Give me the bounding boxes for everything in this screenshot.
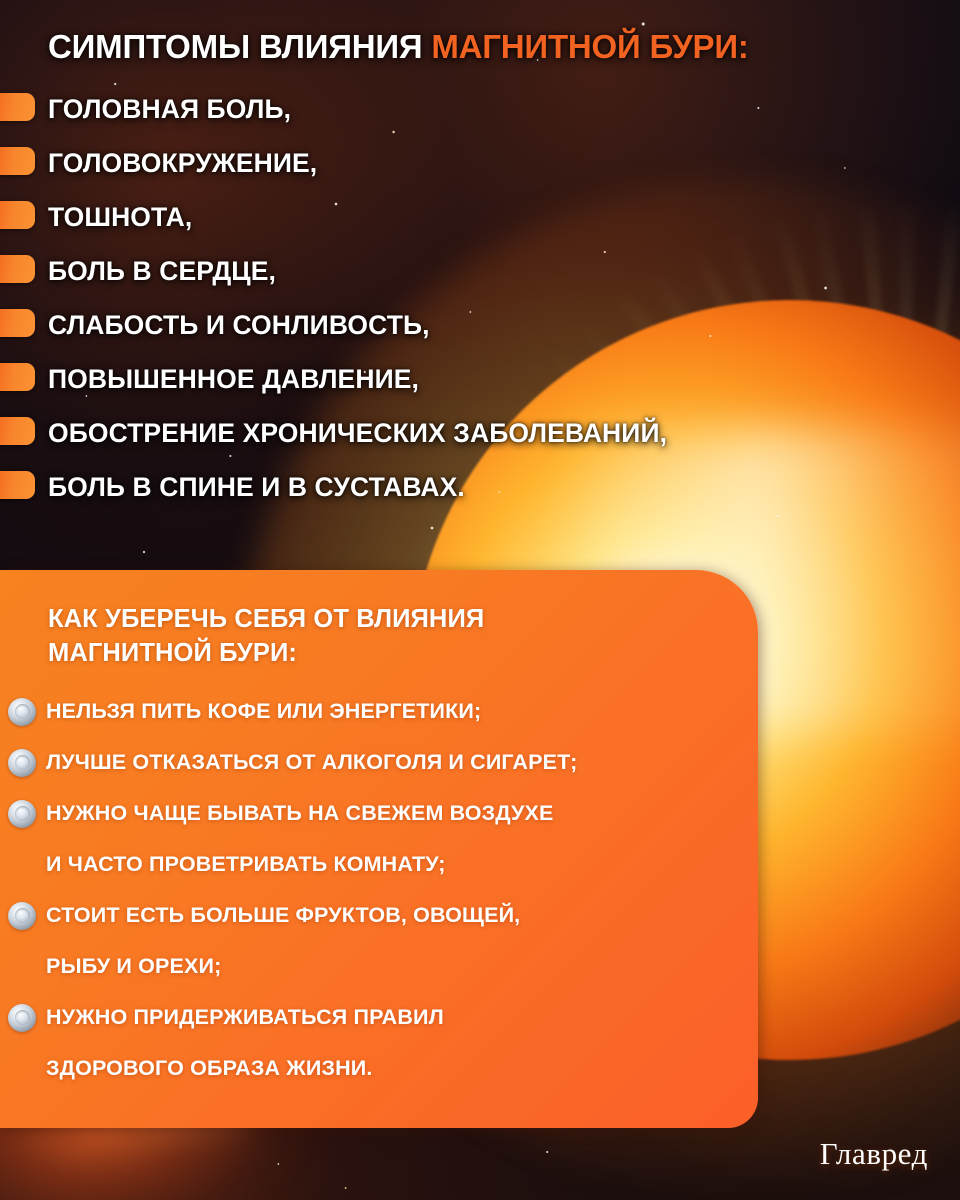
tip-label: НЕЛЬЗЯ ПИТЬ КОФЕ ИЛИ ЭНЕРГЕТИКИ; bbox=[0, 699, 481, 724]
circle-bullet-icon bbox=[8, 1004, 36, 1032]
list-item: БОЛЬ В СЕРДЦЕ, bbox=[0, 245, 960, 299]
tips-list: НЕЛЬЗЯ ПИТЬ КОФЕ ИЛИ ЭНЕРГЕТИКИ; ЛУЧШЕ О… bbox=[0, 670, 758, 1094]
watermark-logo: Главред bbox=[820, 1136, 928, 1172]
list-item: ЛУЧШЕ ОТКАЗАТЬСЯ ОТ АЛКОГОЛЯ И СИГАРЕТ; bbox=[0, 737, 758, 788]
bullet-bar-icon bbox=[0, 309, 35, 337]
tip-line-continuation: РЫБУ И ОРЕХИ; bbox=[0, 941, 758, 992]
circle-bullet-icon bbox=[8, 749, 36, 777]
symptom-label: БОЛЬ В СПИНЕ И В СУСТАВАХ. bbox=[0, 472, 465, 503]
tip-label: НУЖНО ЧАЩЕ БЫВАТЬ НА СВЕЖЕМ ВОЗДУХЕ bbox=[0, 801, 554, 826]
list-item: НУЖНО ЧАЩЕ БЫВАТЬ НА СВЕЖЕМ ВОЗДУХЕ И ЧА… bbox=[0, 788, 758, 890]
symptom-list: ГОЛОВНАЯ БОЛЬ, ГОЛОВОКРУЖЕНИЕ, ТОШНОТА, … bbox=[0, 65, 960, 515]
tip-line: НУЖНО ЧАЩЕ БЫВАТЬ НА СВЕЖЕМ ВОЗДУХЕ bbox=[0, 788, 758, 839]
bullet-bar-icon bbox=[0, 417, 35, 445]
tips-title-line-1: КАК УБЕРЕЧЬ СЕБЯ ОТ ВЛИЯНИЯ bbox=[48, 605, 484, 633]
tip-label: ЛУЧШЕ ОТКАЗАТЬСЯ ОТ АЛКОГОЛЯ И СИГАРЕТ; bbox=[0, 750, 577, 775]
tips-panel: КАК УБЕРЕЧЬ СЕБЯ ОТ ВЛИЯНИЯ МАГНИТНОЙ БУ… bbox=[0, 570, 758, 1128]
list-item: ГОЛОВНАЯ БОЛЬ, bbox=[0, 83, 960, 137]
tip-label-continued: И ЧАСТО ПРОВЕТРИВАТЬ КОМНАТУ; bbox=[0, 852, 446, 877]
symptom-label: ГОЛОВНАЯ БОЛЬ, bbox=[0, 94, 291, 125]
bullet-bar-icon bbox=[0, 255, 35, 283]
list-item: БОЛЬ В СПИНЕ И В СУСТАВАХ. bbox=[0, 461, 960, 515]
circle-bullet-icon bbox=[8, 902, 36, 930]
bullet-bar-icon bbox=[0, 201, 35, 229]
symptoms-section: СИМПТОМЫ ВЛИЯНИЯ МАГНИТНОЙ БУРИ: ГОЛОВНА… bbox=[0, 0, 960, 515]
page-title: СИМПТОМЫ ВЛИЯНИЯ МАГНИТНОЙ БУРИ: bbox=[0, 0, 960, 65]
tip-line: НУЖНО ПРИДЕРЖИВАТЬСЯ ПРАВИЛ bbox=[0, 992, 758, 1043]
tips-title-line-2: МАГНИТНОЙ БУРИ: bbox=[48, 639, 297, 667]
page-title-accent: МАГНИТНОЙ БУРИ: bbox=[431, 28, 748, 65]
list-item: НЕЛЬЗЯ ПИТЬ КОФЕ ИЛИ ЭНЕРГЕТИКИ; bbox=[0, 686, 758, 737]
tips-panel-title: КАК УБЕРЕЧЬ СЕБЯ ОТ ВЛИЯНИЯ МАГНИТНОЙ БУ… bbox=[0, 570, 758, 670]
circle-bullet-icon bbox=[8, 698, 36, 726]
tip-line: ЛУЧШЕ ОТКАЗАТЬСЯ ОТ АЛКОГОЛЯ И СИГАРЕТ; bbox=[0, 737, 758, 788]
tip-label-continued: РЫБУ И ОРЕХИ; bbox=[0, 954, 221, 979]
tip-label: СТОИТ ЕСТЬ БОЛЬШЕ ФРУКТОВ, ОВОЩЕЙ, bbox=[0, 903, 520, 928]
list-item: ТОШНОТА, bbox=[0, 191, 960, 245]
bullet-bar-icon bbox=[0, 93, 35, 121]
tip-line-continuation: И ЧАСТО ПРОВЕТРИВАТЬ КОМНАТУ; bbox=[0, 839, 758, 890]
symptom-label: ГОЛОВОКРУЖЕНИЕ, bbox=[0, 148, 317, 179]
list-item: ОБОСТРЕНИЕ ХРОНИЧЕСКИХ ЗАБОЛЕВАНИЙ, bbox=[0, 407, 960, 461]
bullet-bar-icon bbox=[0, 147, 35, 175]
list-item: СЛАБОСТЬ И СОНЛИВОСТЬ, bbox=[0, 299, 960, 353]
infographic-poster: СИМПТОМЫ ВЛИЯНИЯ МАГНИТНОЙ БУРИ: ГОЛОВНА… bbox=[0, 0, 960, 1200]
symptom-label: СЛАБОСТЬ И СОНЛИВОСТЬ, bbox=[0, 310, 430, 341]
tip-label: НУЖНО ПРИДЕРЖИВАТЬСЯ ПРАВИЛ bbox=[0, 1005, 444, 1030]
tip-line: НЕЛЬЗЯ ПИТЬ КОФЕ ИЛИ ЭНЕРГЕТИКИ; bbox=[0, 686, 758, 737]
symptom-label: БОЛЬ В СЕРДЦЕ, bbox=[0, 256, 276, 287]
symptom-label: ОБОСТРЕНИЕ ХРОНИЧЕСКИХ ЗАБОЛЕВАНИЙ, bbox=[0, 418, 667, 449]
page-title-plain: СИМПТОМЫ ВЛИЯНИЯ bbox=[48, 28, 431, 65]
list-item: ПОВЫШЕННОЕ ДАВЛЕНИЕ, bbox=[0, 353, 960, 407]
tip-label-continued: ЗДОРОВОГО ОБРАЗА ЖИЗНИ. bbox=[0, 1056, 373, 1081]
list-item: СТОИТ ЕСТЬ БОЛЬШЕ ФРУКТОВ, ОВОЩЕЙ, РЫБУ … bbox=[0, 890, 758, 992]
list-item: ГОЛОВОКРУЖЕНИЕ, bbox=[0, 137, 960, 191]
list-item: НУЖНО ПРИДЕРЖИВАТЬСЯ ПРАВИЛ ЗДОРОВОГО ОБ… bbox=[0, 992, 758, 1094]
tip-line-continuation: ЗДОРОВОГО ОБРАЗА ЖИЗНИ. bbox=[0, 1043, 758, 1094]
tip-line: СТОИТ ЕСТЬ БОЛЬШЕ ФРУКТОВ, ОВОЩЕЙ, bbox=[0, 890, 758, 941]
bullet-bar-icon bbox=[0, 471, 35, 499]
circle-bullet-icon bbox=[8, 800, 36, 828]
bullet-bar-icon bbox=[0, 363, 35, 391]
symptom-label: ПОВЫШЕННОЕ ДАВЛЕНИЕ, bbox=[0, 364, 419, 395]
